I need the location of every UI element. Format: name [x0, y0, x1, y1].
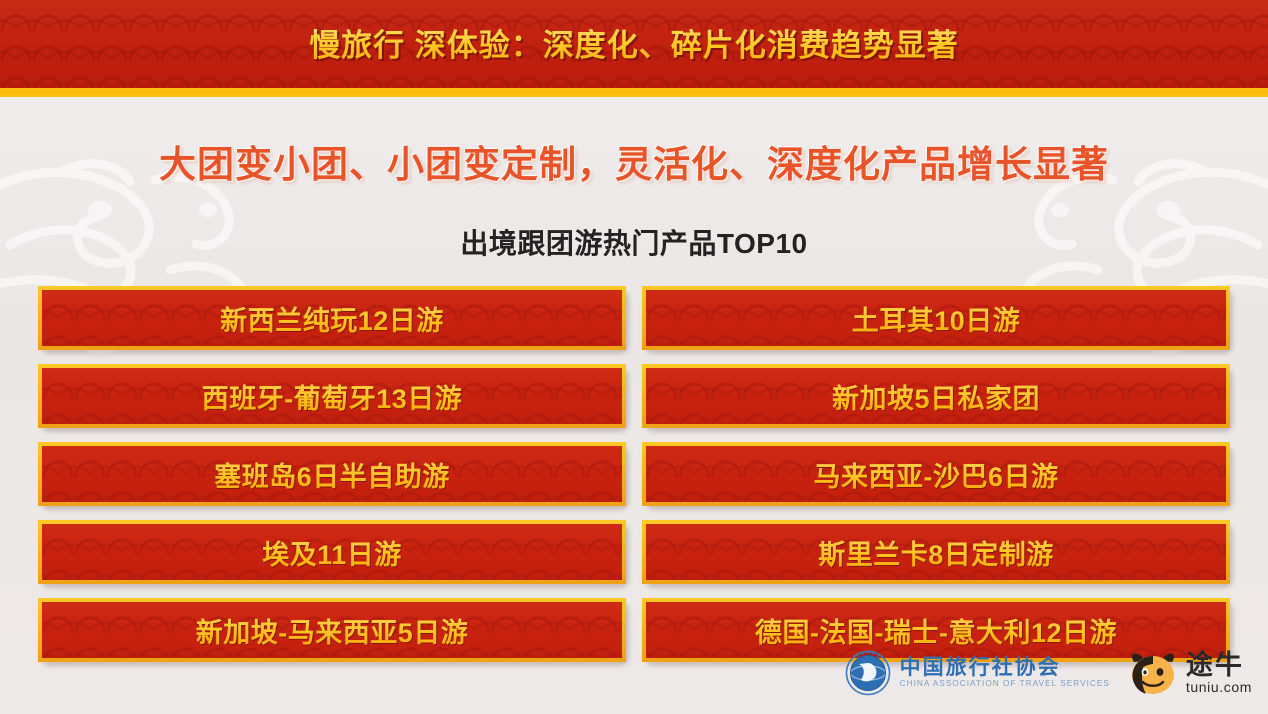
- product-label: 新西兰纯玩12日游: [220, 299, 444, 338]
- header-title: 慢旅行 深体验：深度化、碎片化消费趋势显著: [0, 20, 1268, 65]
- product-label: 新加坡5日私家团: [832, 377, 1040, 416]
- product-column-left: 新西兰纯玩12日游 西班牙-葡萄牙13日游 塞班岛6日半自助游 埃及11日游 新…: [38, 286, 626, 662]
- cats-logo: 中国旅行社协会 CHINA ASSOCIATION OF TRAVEL SERV…: [845, 650, 1110, 696]
- product-item[interactable]: 新加坡5日私家团: [642, 364, 1230, 428]
- product-label: 新加坡-马来西亚5日游: [196, 611, 469, 650]
- product-item[interactable]: 新西兰纯玩12日游: [38, 286, 626, 350]
- tuniu-logo-text: 途牛 tuniu.com: [1186, 651, 1252, 694]
- tuniu-name-en: tuniu.com: [1186, 680, 1252, 695]
- product-label: 马来西亚-沙巴6日游: [813, 455, 1058, 494]
- product-item[interactable]: 马来西亚-沙巴6日游: [642, 442, 1230, 506]
- globe-icon: [845, 650, 891, 696]
- footer-logos: 中国旅行社协会 CHINA ASSOCIATION OF TRAVEL SERV…: [845, 640, 1252, 706]
- header-banner: 慢旅行 深体验：深度化、碎片化消费趋势显著: [0, 0, 1268, 88]
- product-column-right: 土耳其10日游 新加坡5日私家团 马来西亚-沙巴6日游 斯里兰卡8日定制游 德国…: [642, 286, 1230, 662]
- header-gold-divider: [0, 88, 1268, 97]
- product-item[interactable]: 埃及11日游: [38, 520, 626, 584]
- product-item[interactable]: 新加坡-马来西亚5日游: [38, 598, 626, 662]
- page-title: 大团变小团、小团变定制，灵活化、深度化产品增长显著: [0, 134, 1268, 188]
- product-item[interactable]: 斯里兰卡8日定制游: [642, 520, 1230, 584]
- product-item[interactable]: 土耳其10日游: [642, 286, 1230, 350]
- product-label: 土耳其10日游: [852, 299, 1021, 338]
- tuniu-logo: 途牛 tuniu.com: [1128, 650, 1252, 696]
- product-label: 斯里兰卡8日定制游: [818, 533, 1054, 572]
- cats-name-cn: 中国旅行社协会: [900, 657, 1110, 680]
- product-label: 塞班岛6日半自助游: [214, 455, 450, 494]
- product-label: 埃及11日游: [262, 533, 402, 572]
- product-rank-grid: 新西兰纯玩12日游 西班牙-葡萄牙13日游 塞班岛6日半自助游 埃及11日游 新…: [38, 286, 1230, 662]
- slide-root: 慢旅行 深体验：深度化、碎片化消费趋势显著 大团变小团、小团变定制，灵活化、深度…: [0, 0, 1268, 714]
- section-subtitle: 出境跟团游热门产品TOP10: [0, 222, 1268, 262]
- product-item[interactable]: 西班牙-葡萄牙13日游: [38, 364, 626, 428]
- cow-icon: [1128, 650, 1178, 696]
- product-item[interactable]: 塞班岛6日半自助游: [38, 442, 626, 506]
- product-label: 西班牙-葡萄牙13日游: [202, 377, 463, 416]
- cats-logo-text: 中国旅行社协会 CHINA ASSOCIATION OF TRAVEL SERV…: [900, 657, 1110, 689]
- cats-name-en: CHINA ASSOCIATION OF TRAVEL SERVICES: [900, 680, 1110, 689]
- tuniu-name-cn: 途牛: [1186, 651, 1252, 679]
